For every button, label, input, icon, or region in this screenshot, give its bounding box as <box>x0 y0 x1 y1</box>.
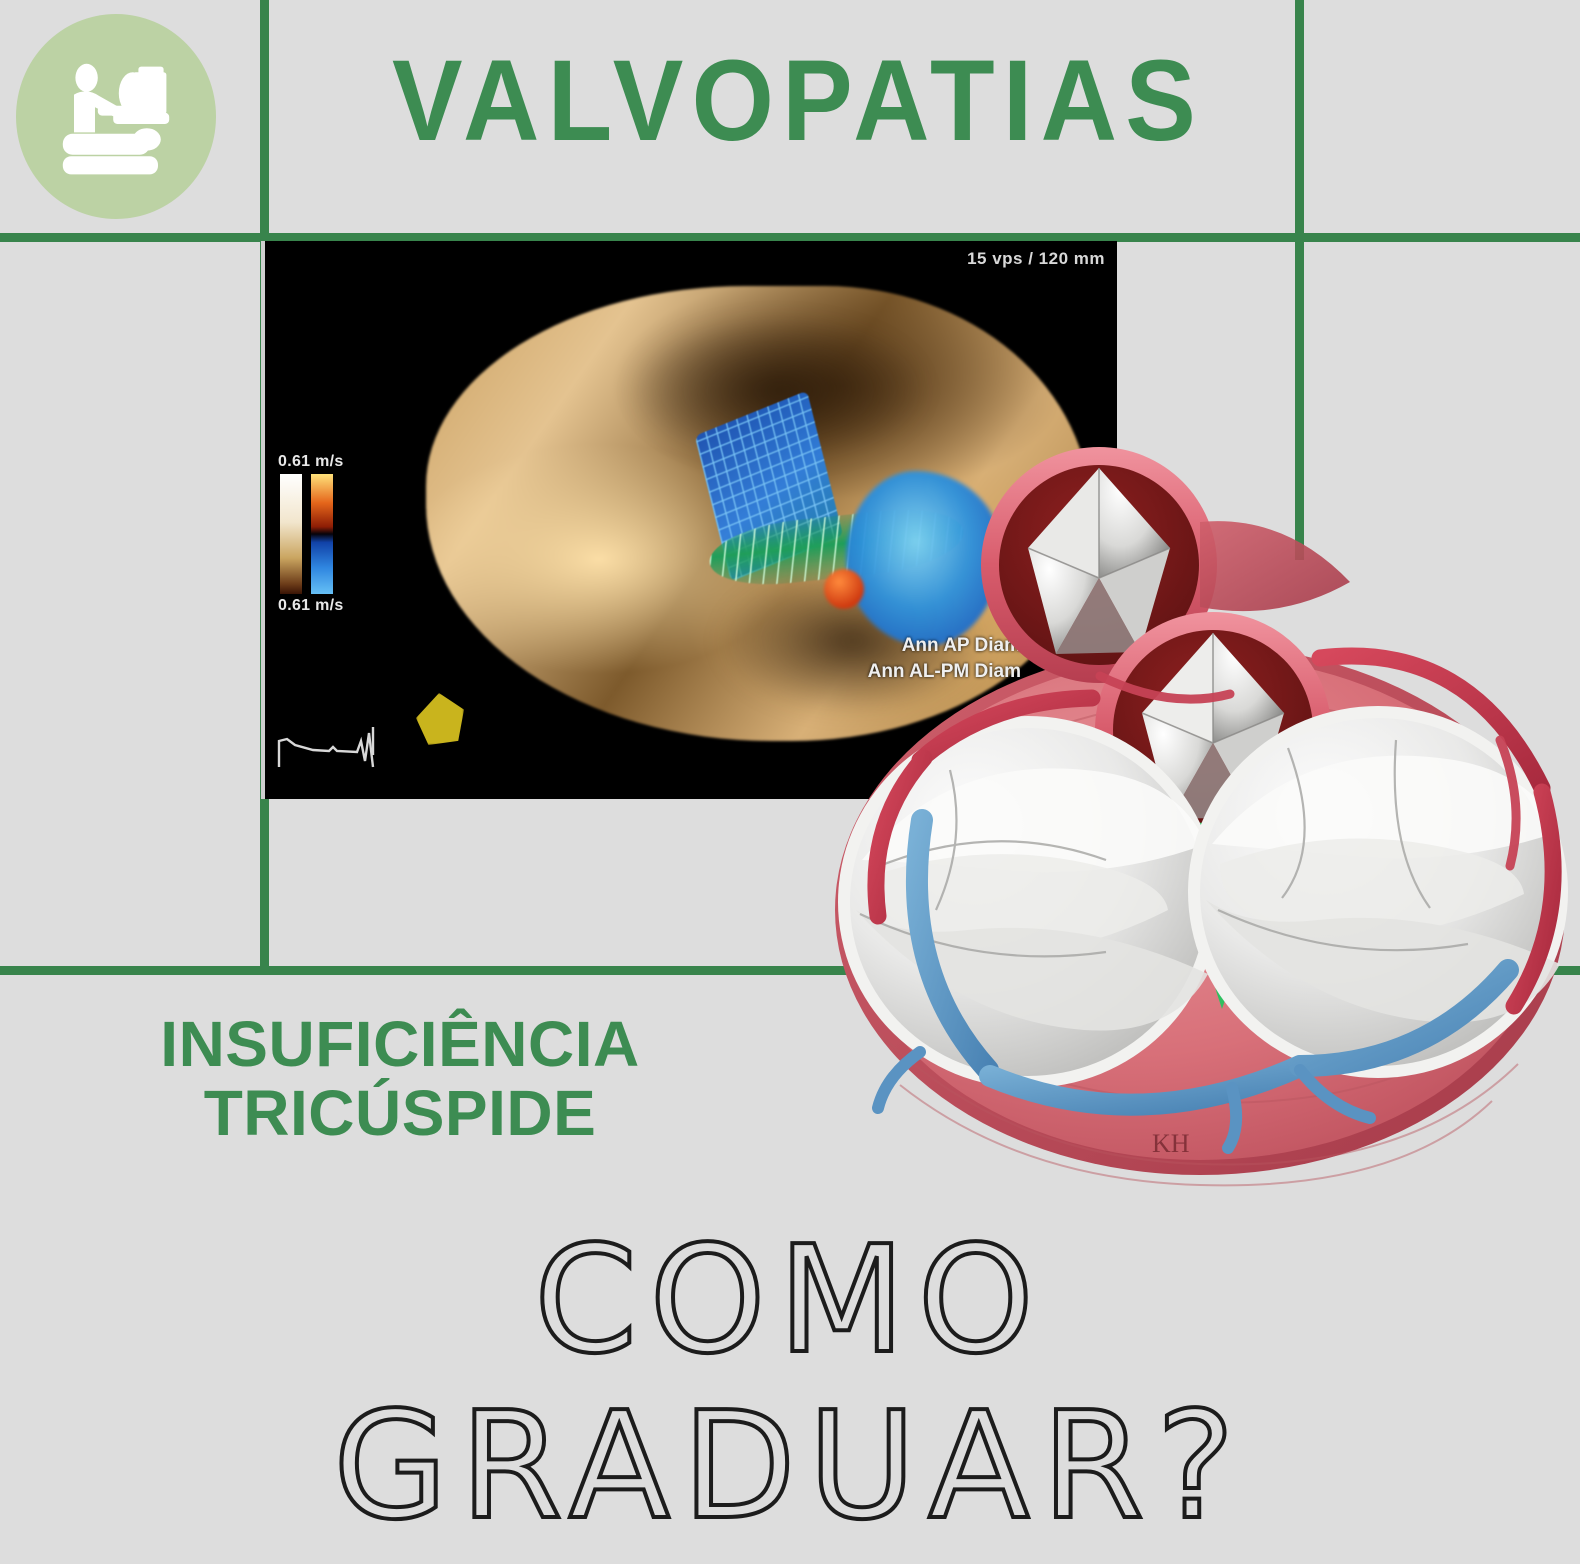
color-scale-bars <box>280 474 373 594</box>
question-line-1: COMO <box>0 1218 1580 1384</box>
question-line-2: GRADUAR? <box>0 1384 1580 1550</box>
subtitle-line-2: TRICÚSPIDE <box>0 1079 800 1148</box>
subtitle-block: INSUFICIÊNCIA TRICÚSPIDE <box>0 1010 800 1148</box>
sonographer-exam-table-icon <box>46 47 186 187</box>
subtitle-line-1: INSUFICIÊNCIA <box>0 1010 800 1079</box>
illustration-signature: KH <box>1152 1129 1190 1158</box>
ultrasound-left-strip <box>261 241 265 799</box>
velocity-bar <box>311 474 333 594</box>
mitral-valve <box>838 716 1218 1088</box>
ecg-trace <box>275 721 420 771</box>
color-scale-bottom-label: 0.61 m/s <box>278 597 373 615</box>
grayscale-bar <box>280 474 302 594</box>
brand-logo-badge <box>16 14 216 219</box>
slide-root: VALVOPATIAS 15 vps / 120 mm 0.61 m/s 0.6… <box>0 0 1580 1564</box>
heart-valves-illustration: KH <box>800 440 1580 1205</box>
color-scale-top-label: 0.61 m/s <box>278 453 373 471</box>
doppler-color-scale: 0.61 m/s 0.61 m/s <box>278 453 373 615</box>
question-block: COMO GRADUAR? <box>0 1218 1580 1550</box>
page-title: VALVOPATIAS <box>392 44 1204 159</box>
ultrasound-acquisition-label: 15 vps / 120 mm <box>967 249 1105 269</box>
